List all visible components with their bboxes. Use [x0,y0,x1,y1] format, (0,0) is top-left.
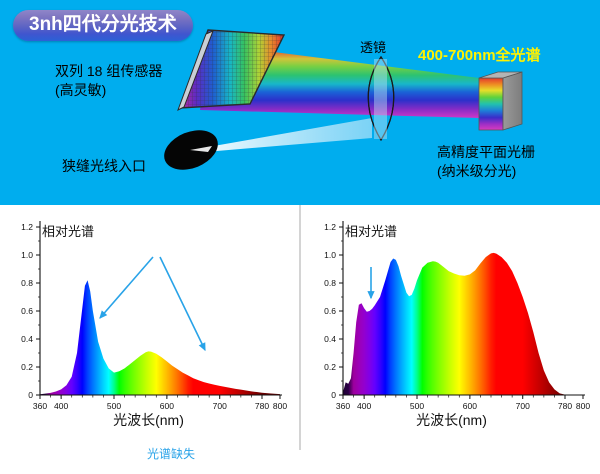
y-tick-label: 1.2 [21,222,33,232]
left-arrow-missing-a [100,257,153,318]
slit-entrance-label: 狭缝光线入口 [62,158,146,174]
spectrum-area [40,280,280,395]
y-tick-label: 0.4 [21,334,33,344]
y-tick-label: 1.2 [324,222,336,232]
y-tick-label: 0.2 [21,362,33,372]
y-tick-label: 0.6 [21,306,33,316]
lens-label: 透镜 [360,40,386,56]
right-chart-title: 相对光谱 [345,221,397,240]
y-tick-label: 0.2 [324,362,336,372]
input-light-beam [205,118,372,152]
y-tick-label: 0 [331,390,336,400]
spectrum-range-label: 400-700nm全光谱 [418,48,541,64]
sensor-array-label: 双列 18 组传感器 (高灵敏) [55,62,162,100]
left-annotation-missing: 光谱缺失 [147,445,195,462]
left-chart-title: 相对光谱 [42,221,94,240]
screenshot-root: 3nh四代分光技术 双列 18 组传感器 (高灵敏) 狭缝光线入口 透镜 高精度… [0,0,600,450]
page-title-badge: 3nh四代分光技术 [13,10,193,41]
grating-label: 高精度平面光栅 (纳米级分光) [437,143,535,181]
y-tick-label: 0.4 [324,334,336,344]
y-tick-label: 0.8 [324,278,336,288]
right-arrow-uv [368,267,374,298]
y-tick-label: 1.0 [324,250,336,260]
y-tick-label: 0 [28,390,33,400]
chart-panels: 00.20.40.60.81.01.2360400500600700780800… [0,205,600,450]
diffraction-grating [479,72,522,130]
spectrum-area [343,253,583,395]
optical-path-diagram: 3nh四代分光技术 双列 18 组传感器 (高灵敏) 狭缝光线入口 透镜 高精度… [0,0,600,205]
right-chart-panel: 00.20.40.60.81.01.2360400500600700780800… [303,205,600,450]
y-tick-label: 1.0 [21,250,33,260]
y-tick-label: 0.8 [21,278,33,288]
left-x-axis-title: 光波长(nm) [0,410,297,430]
left-arrow-missing-b [160,257,205,350]
slit-entrance [158,123,223,177]
y-tick-label: 0.6 [324,306,336,316]
right-x-axis-title: 光波长(nm) [303,410,600,430]
left-chart-panel: 00.20.40.60.81.01.2360400500600700780800… [0,205,297,450]
